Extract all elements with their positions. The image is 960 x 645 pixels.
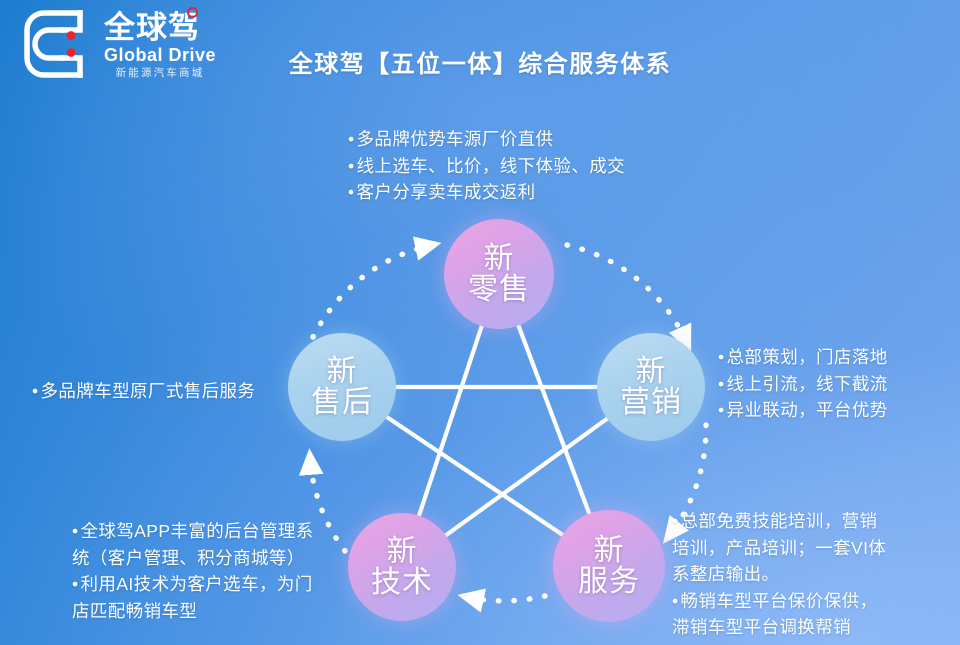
callout-tech-item-1: 全球驾APP丰富的后台管理系 (72, 518, 342, 545)
callout-service: 总部免费技能培训，营销 培训，产品培训；一套VI体 系整店输出。 畅销车型平台保… (672, 508, 942, 641)
node-marketing-line2: 营销 (620, 387, 682, 419)
node-new-marketing[interactable]: 新 营销 (597, 333, 705, 441)
node-new-technology[interactable]: 新 技术 (348, 513, 456, 621)
callout-aftersales: 多品牌车型原厂式售后服务 (32, 378, 255, 405)
callout-tech-item-2: 利用AI技术为客户选车，为门 (72, 571, 342, 598)
node-new-retail[interactable]: 新 零售 (444, 219, 554, 329)
callout-service-item-1-cont: 培训，产品培训；一套VI体 (672, 535, 942, 562)
callout-marketing-line-2: 线上引流，线下截流 (718, 371, 888, 398)
node-tech-line2: 技术 (371, 567, 433, 599)
node-tech-line1: 新 (387, 536, 418, 568)
callout-service-item-1: 总部免费技能培训，营销 (672, 508, 942, 535)
callout-retail-line-2: 线上选车、比价，线下体验、成交 (348, 153, 625, 180)
callout-tech-item-1-cont: 统（客户管理、积分商城等） (72, 545, 342, 572)
callout-aftersales-line-1: 多品牌车型原厂式售后服务 (32, 378, 255, 405)
callout-service-item-2-cont: 滞销车型平台调换帮销 (672, 614, 942, 641)
node-retail-line2: 零售 (468, 274, 530, 306)
arrow-retail-to-marketing (567, 245, 687, 343)
callout-retail: 多品牌优势车源厂价直供 线上选车、比价，线下体验、成交 客户分享卖车成交返利 (348, 126, 625, 206)
callout-technology: 全球驾APP丰富的后台管理系 统（客户管理、积分商城等） 利用AI技术为客户选车… (72, 518, 342, 624)
node-retail-line1: 新 (484, 243, 515, 275)
callout-retail-line-1: 多品牌优势车源厂价直供 (348, 126, 625, 153)
node-service-line1: 新 (594, 535, 625, 567)
node-aftersale-line1: 新 (327, 356, 358, 388)
node-marketing-line1: 新 (636, 356, 667, 388)
callout-marketing-line-1: 总部策划，门店落地 (718, 344, 888, 371)
node-service-line2: 服务 (578, 566, 640, 598)
node-new-service[interactable]: 新 服务 (553, 510, 665, 622)
callout-marketing-line-3: 异业联动，平台优势 (718, 397, 888, 424)
node-aftersale-line2: 售后 (311, 387, 373, 419)
callout-retail-line-3: 客户分享卖车成交返利 (348, 179, 625, 206)
callout-marketing: 总部策划，门店落地 线上引流，线下截流 异业联动，平台优势 (718, 344, 888, 424)
node-new-aftersales[interactable]: 新 售后 (288, 333, 396, 441)
callout-service-item-2: 畅销车型平台保价保供， (672, 588, 942, 615)
slide-canvas: 全球驾 Global Drive 新能源汽车商城 全球驾【五位一体】综合服务体系 (0, 0, 960, 645)
callout-service-item-1-cont2: 系整店输出。 (672, 561, 942, 588)
arrow-service-to-tech (467, 596, 545, 601)
arrow-aftersale-to-retail (313, 245, 432, 337)
callout-tech-item-2-cont: 店匹配畅销车型 (72, 598, 342, 625)
